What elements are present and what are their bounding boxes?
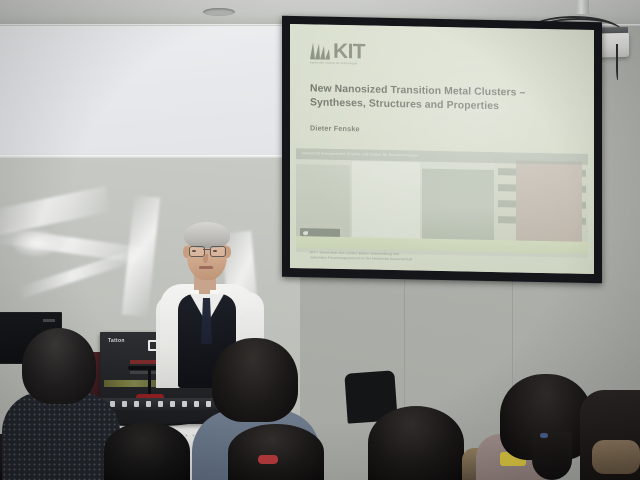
whiteboard [0,26,292,158]
lecture-hall-scene: KIT Karlsruher Institut für Technologie … [0,0,640,480]
presenter-mouth [199,266,213,269]
fur-hood [592,440,640,474]
slide-photo: Institut für Anorganische Chemie und Ins… [296,148,588,258]
photo-building-glass [422,169,494,242]
photo-building-pane [352,161,420,240]
ceiling-vent-icon [203,8,235,16]
presenter-nose [203,254,208,263]
list-item [228,424,324,480]
presentation-slide: KIT Karlsruher Institut für Technologie … [290,24,594,274]
slide-title: New Nanosized Transition Metal Clusters … [310,82,560,115]
kit-logo: KIT [310,40,365,60]
kit-rays-icon [310,40,332,59]
list-item [368,406,464,480]
slide-author: Dieter Fenske [310,123,360,133]
photo-building-right [516,160,582,243]
list-item [212,338,298,422]
ponytail [532,432,572,480]
hair-tie-icon [258,455,278,464]
kit-tagline: Karlsruher Institut für Technologie [310,61,357,65]
audience-seating [0,310,640,480]
kit-wordmark: KIT [333,43,365,61]
list-item [104,422,190,480]
presenter-hair [184,222,230,248]
wall-light-glare [10,228,62,258]
projection-screen[interactable]: KIT Karlsruher Institut für Technologie … [282,16,602,283]
photo-sign-icon [300,228,340,237]
hair-band-icon [540,433,548,438]
photo-caption: Institut für Anorganische Chemie und Ins… [302,151,419,157]
projection-surface: KIT Karlsruher Institut für Technologie … [290,24,594,274]
list-item [22,328,96,404]
list-item [2,392,120,480]
projector-drop-cable [616,44,620,80]
